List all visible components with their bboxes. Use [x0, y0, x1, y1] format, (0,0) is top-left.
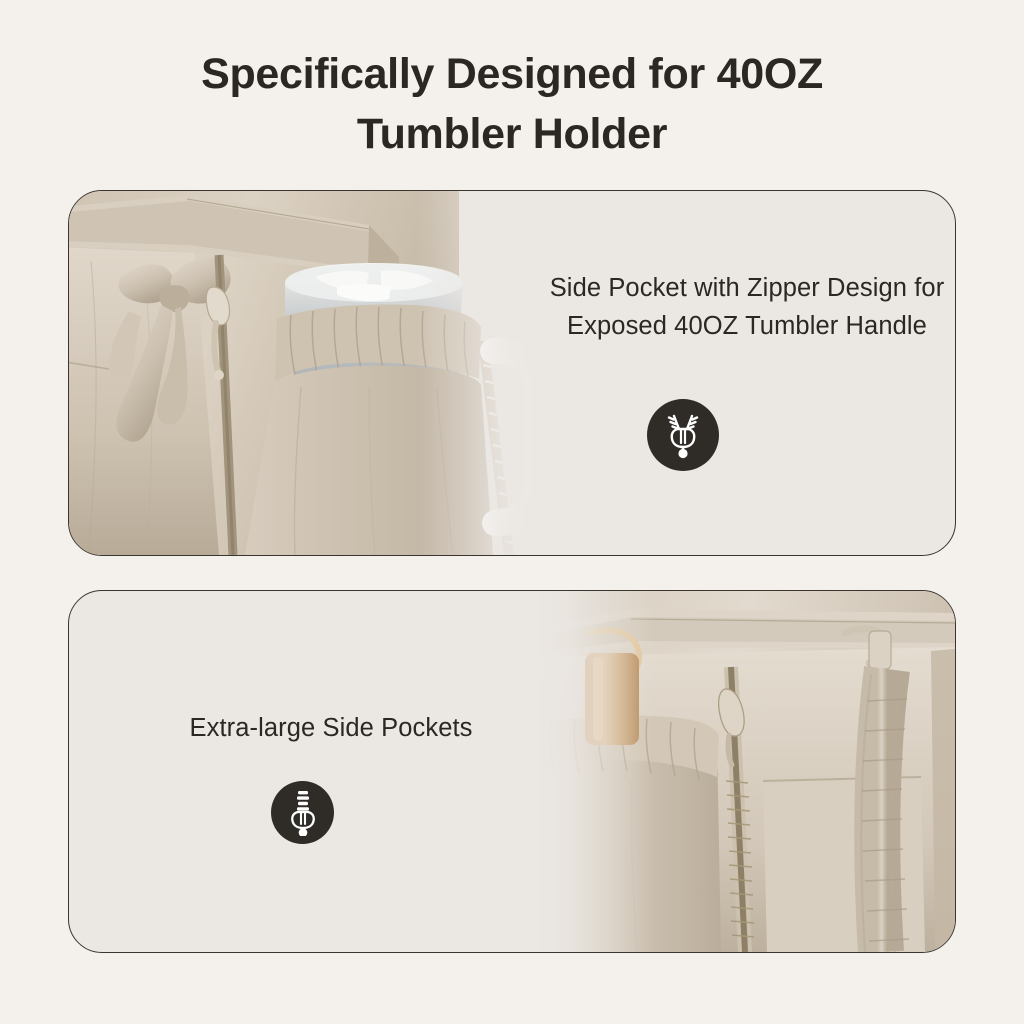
bag-side-pocket-with-tumbler-photo	[69, 191, 539, 555]
card-one-caption-line-1: Side Pocket with Zipper Design for	[497, 269, 956, 307]
card-one-caption: Side Pocket with Zipper Design for Expos…	[497, 269, 956, 345]
closed-zipper-glyph	[284, 790, 322, 836]
elastic-side-pocket-2	[535, 716, 721, 952]
page-title: Specifically Designed for 40OZ Tumbler H…	[0, 44, 1024, 164]
closed-zipper-icon	[271, 781, 334, 844]
open-zipper-icon	[647, 399, 719, 471]
title-line-1: Specifically Designed for 40OZ	[0, 44, 1024, 104]
card-two-caption: Extra-large Side Pockets	[111, 709, 551, 747]
bag-photo-illustration-2	[535, 591, 955, 952]
bag-photo-illustration	[69, 191, 539, 555]
feature-card-tumbler-pocket: Side Pocket with Zipper Design for Expos…	[68, 190, 956, 556]
open-zipper-glyph	[662, 411, 704, 459]
title-line-2: Tumbler Holder	[0, 104, 1024, 164]
card-two-caption-line-1: Extra-large Side Pockets	[111, 709, 551, 747]
bag-extra-large-side-pocket-photo	[535, 591, 955, 952]
card-one-caption-line-2: Exposed 40OZ Tumbler Handle	[497, 307, 956, 345]
feature-card-side-pockets: Extra-large Side Pockets	[68, 590, 956, 953]
